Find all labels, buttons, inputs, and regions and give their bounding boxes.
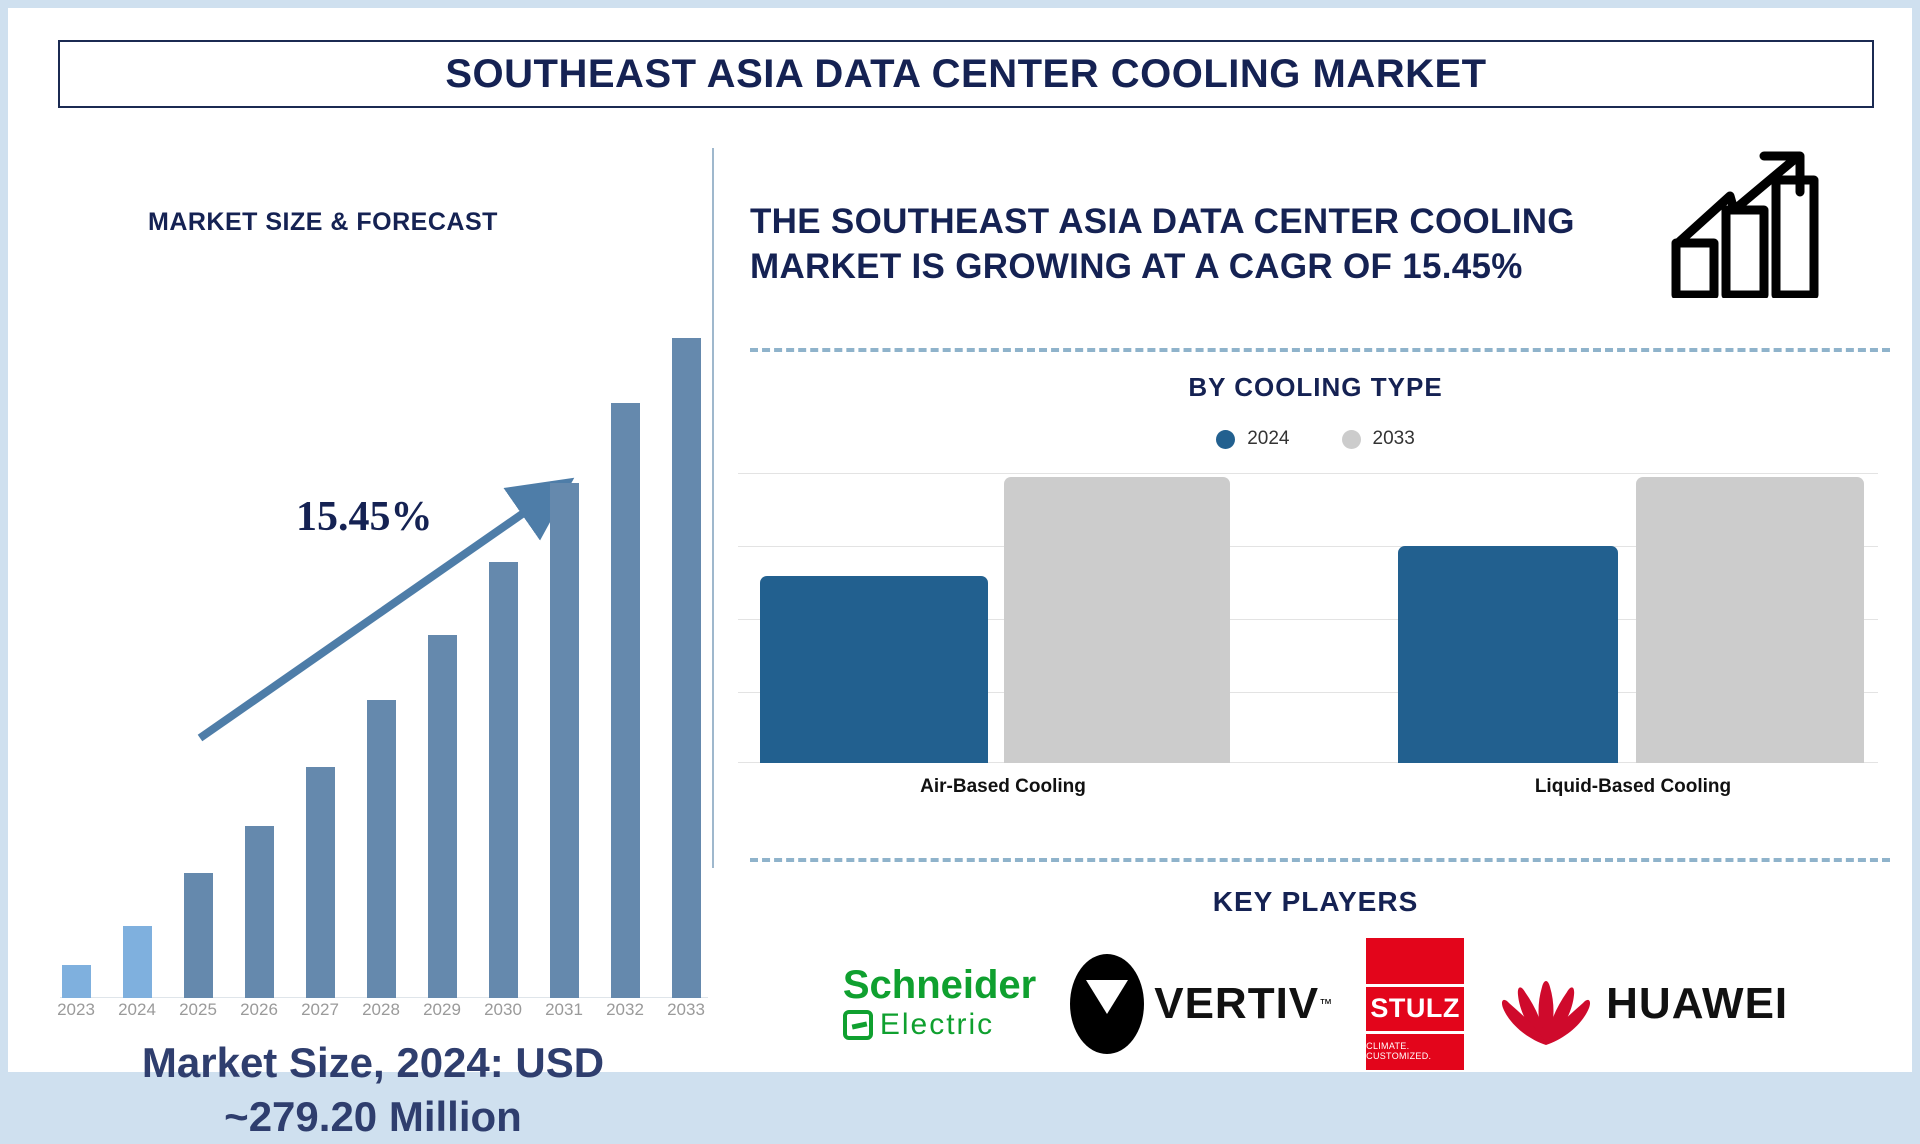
vertiv-wordmark: VERTIV: [1154, 979, 1319, 1029]
bar-air-2024: [760, 576, 988, 763]
year-axis-labels: 2023 2024 2025 2026 2027 2028 2029 2030 …: [48, 1000, 708, 1030]
schneider-sub: Electric: [843, 1008, 994, 1042]
cooling-type-chart: [738, 473, 1878, 763]
bar-liquid-2024: [1398, 546, 1618, 763]
bar-2023: [62, 965, 91, 998]
legend-label: 2024: [1247, 428, 1289, 450]
bar-2030: [489, 562, 518, 998]
bar-2028: [367, 700, 396, 998]
market-size-line-1: Market Size, 2024: USD: [28, 1036, 718, 1090]
market-size-panel: MARKET SIZE & FORECAST 15.45%: [28, 138, 718, 1058]
market-size-heading: MARKET SIZE & FORECAST: [148, 208, 498, 237]
year-label: 2033: [659, 1000, 713, 1020]
bar-2024: [123, 926, 152, 998]
year-label: 2027: [293, 1000, 347, 1020]
year-label: 2023: [49, 1000, 103, 1020]
vertiv-mark-icon: [1070, 954, 1144, 1054]
legend-item-2033: 2033: [1342, 428, 1415, 450]
market-size-value: Market Size, 2024: USD ~279.20 Million: [28, 1036, 718, 1144]
key-players-logos: Schneider Electric VERTIV ™ STULZ CLIMAT…: [738, 936, 1893, 1071]
divider-top: [750, 348, 1890, 352]
title-box: SOUTHEAST ASIA DATA CENTER COOLING MARKE…: [58, 40, 1874, 108]
divider-bottom: [750, 858, 1890, 862]
bar-2027: [306, 767, 335, 998]
vertiv-tm-icon: ™: [1319, 996, 1332, 1011]
year-label: 2031: [537, 1000, 591, 1020]
bar-2033: [672, 338, 701, 998]
schneider-square-icon: [843, 1010, 873, 1040]
huawei-wordmark: HUAWEI: [1606, 979, 1788, 1029]
bar-2032: [611, 403, 640, 998]
schneider-wordmark: Schneider: [843, 965, 1036, 1005]
stulz-wordmark: STULZ: [1370, 987, 1460, 1031]
year-label: 2030: [476, 1000, 530, 1020]
logo-stulz: STULZ CLIMATE. CUSTOMIZED.: [1366, 938, 1464, 1070]
bar-liquid-2033: [1636, 477, 1864, 763]
page-title: SOUTHEAST ASIA DATA CENTER COOLING MARKE…: [445, 52, 1486, 97]
market-size-line-2: ~279.20 Million: [28, 1090, 718, 1144]
legend-dot-icon: [1216, 430, 1235, 449]
logo-huawei: HUAWEI: [1498, 961, 1788, 1047]
logo-vertiv: VERTIV ™: [1070, 954, 1332, 1054]
chart-legend: 2024 2033: [738, 428, 1893, 450]
legend-item-2024: 2024: [1216, 428, 1289, 450]
year-label: 2026: [232, 1000, 286, 1020]
huawei-flower-icon: [1498, 961, 1594, 1047]
year-label: 2028: [354, 1000, 408, 1020]
schneider-electric-text: Electric: [880, 1008, 994, 1042]
cagr-headline: THE SOUTHEAST ASIA DATA CENTER COOLING M…: [750, 200, 1590, 290]
year-label: 2029: [415, 1000, 469, 1020]
bar-air-2033: [1004, 477, 1230, 763]
category-label-air: Air-Based Cooling: [858, 776, 1148, 798]
stulz-red-panel: [1366, 938, 1464, 984]
market-size-forecast-chart: [48, 328, 708, 998]
legend-label: 2033: [1373, 428, 1415, 450]
bar-2031: [550, 483, 579, 998]
growth-chart-icon: [1668, 148, 1838, 298]
right-panel: THE SOUTHEAST ASIA DATA CENTER COOLING M…: [738, 128, 1893, 1068]
year-label: 2025: [171, 1000, 225, 1020]
bar-2029: [428, 635, 457, 998]
by-cooling-type-title: BY COOLING TYPE: [738, 372, 1893, 403]
year-label: 2024: [110, 1000, 164, 1020]
year-label: 2032: [598, 1000, 652, 1020]
grid-line: [738, 473, 1878, 474]
bar-2025: [184, 873, 213, 998]
legend-dot-icon: [1342, 430, 1361, 449]
key-players-title: KEY PLAYERS: [738, 886, 1893, 918]
category-label-liquid: Liquid-Based Cooling: [1488, 776, 1778, 798]
bar-2026: [245, 826, 274, 998]
stulz-tagline: CLIMATE. CUSTOMIZED.: [1366, 1034, 1464, 1070]
logo-schneider-electric: Schneider Electric: [843, 965, 1036, 1042]
infographic-page: SOUTHEAST ASIA DATA CENTER COOLING MARKE…: [8, 8, 1912, 1072]
